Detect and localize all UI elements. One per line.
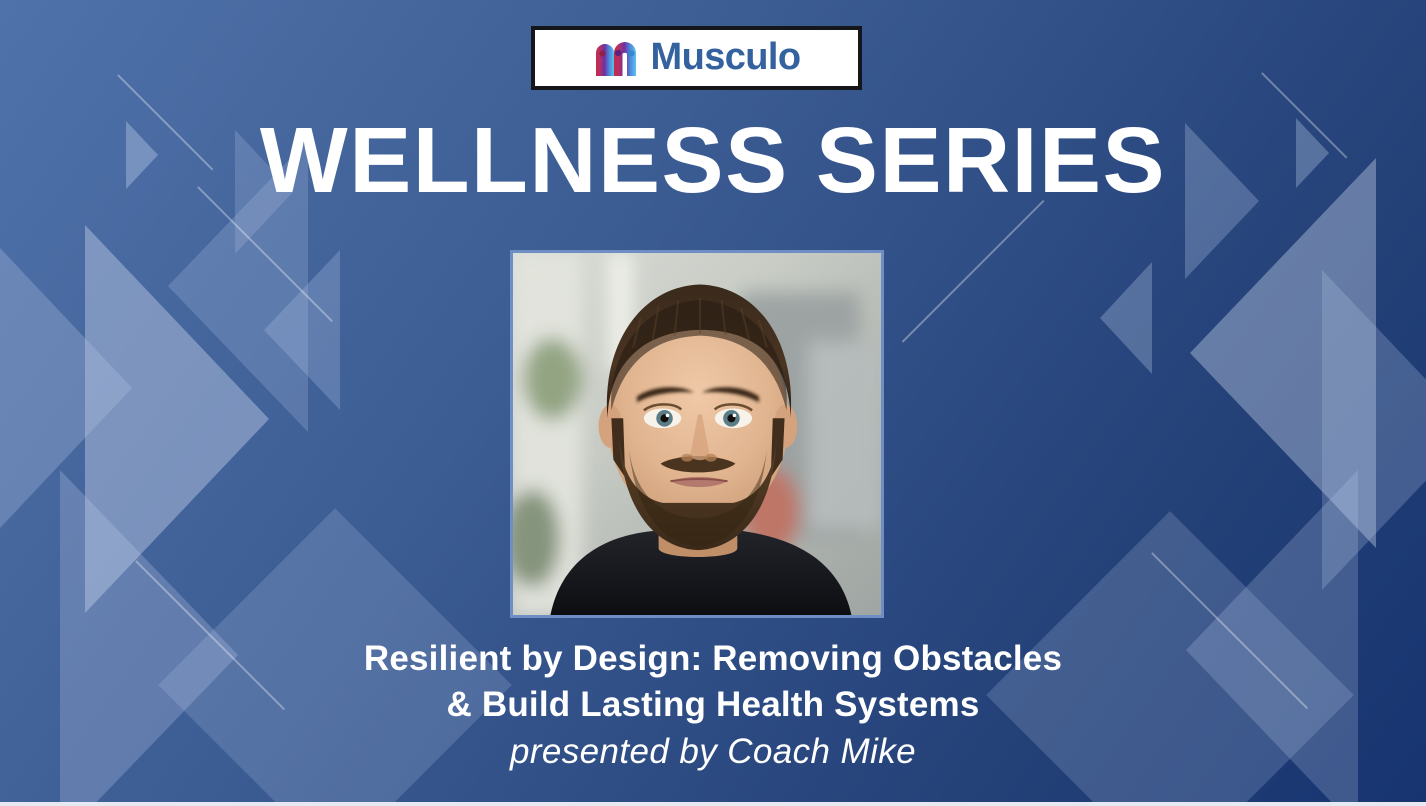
speaker-portrait-image: [513, 253, 881, 615]
speaker-portrait: [510, 250, 884, 618]
deco-line-right-mid: [902, 200, 1044, 342]
caption-title-line-1: Resilient by Design: Removing Obstacles: [0, 636, 1426, 682]
brand-wordmark: Musculo: [651, 38, 801, 76]
musculo-m-icon: [593, 38, 639, 78]
caption-title-line-2: & Build Lasting Health Systems: [0, 682, 1426, 728]
brand-logo-lockup: Musculo: [531, 26, 862, 90]
wellness-series-banner: Musculo WELLNESS SERIES: [0, 0, 1426, 806]
deco-triangle-left-arrow-mid: [264, 250, 340, 410]
event-caption: Resilient by Design: Removing Obstacles …: [0, 636, 1426, 776]
page-title: WELLNESS SERIES: [0, 114, 1426, 207]
deco-triangle-right-arrow-mid: [1100, 262, 1152, 374]
bottom-accent-strip: [0, 802, 1426, 806]
caption-presenter: presented by Coach Mike: [0, 728, 1426, 776]
